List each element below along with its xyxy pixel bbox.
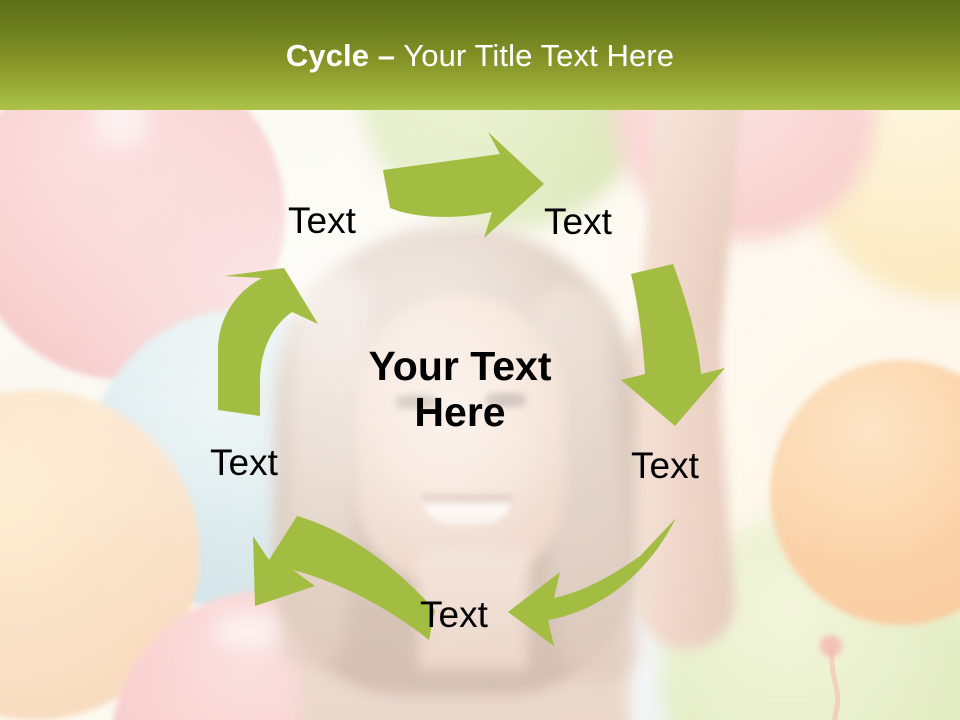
arrow-top-right (376, 132, 546, 247)
label-step-5[interactable]: Text (210, 444, 278, 481)
arrow-right-down-path (621, 264, 725, 426)
center-label-line-1: Your Text (330, 344, 590, 390)
arrow-bottom-up-left (253, 514, 438, 646)
label-step-2[interactable]: Text (544, 203, 612, 240)
arrow-bottom-up-left-path (253, 516, 435, 640)
page-title-regular-part: Your Title Text Here (395, 38, 674, 73)
arrow-bottom-left (508, 512, 680, 648)
arrow-left-up-path (218, 268, 318, 416)
center-label[interactable]: Your Text Here (330, 344, 590, 436)
center-label-line-2: Here (330, 390, 590, 436)
page-title[interactable]: Cycle – Your Title Text Here (286, 40, 674, 71)
label-step-4[interactable]: Text (420, 596, 488, 633)
arrow-top-right-path (383, 132, 544, 238)
arrow-left-up (200, 268, 330, 426)
arrow-right-down (613, 264, 731, 429)
balloon-pink-topleft-highlight (95, 110, 147, 145)
label-step-3[interactable]: Text (631, 447, 699, 484)
balloon-ribbon (790, 650, 900, 720)
slide-title-bar: Cycle – Your Title Text Here (0, 0, 960, 110)
slide-canvas: Text Text Text Text Text Your Text Here … (0, 0, 960, 720)
label-step-1[interactable]: Text (288, 202, 356, 239)
page-title-bold-part: Cycle – (286, 38, 395, 73)
arrow-bottom-left-path (508, 518, 676, 646)
